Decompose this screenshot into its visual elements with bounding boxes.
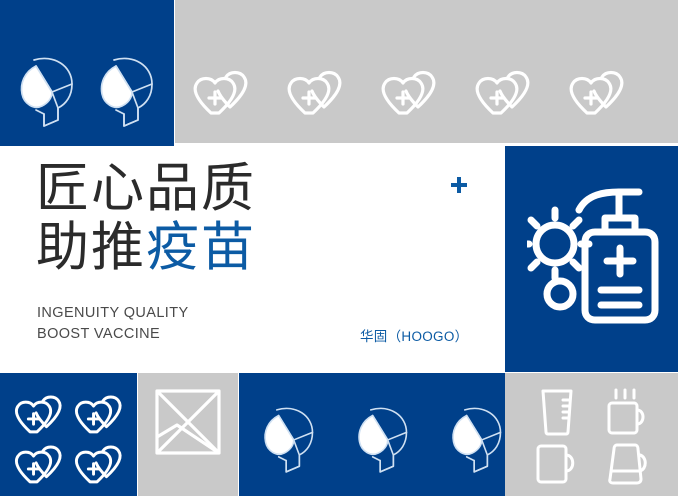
plus-icon xyxy=(450,176,468,194)
headline-line-1: 匠心品质 xyxy=(36,162,256,215)
double-heart-plus-icon xyxy=(472,68,537,120)
double-heart-plus-icon xyxy=(190,68,255,120)
masked-head-icon xyxy=(94,52,160,130)
poster-canvas: 匠心品质 助推疫苗 INGENUITY QUALITY BOOST VACCIN… xyxy=(0,0,678,496)
headline-line-2-dark: 助推 xyxy=(36,217,146,278)
measuring-beaker-icon xyxy=(537,388,577,436)
double-heart-plus-icon xyxy=(72,443,128,488)
subtitle-line-1: INGENUITY QUALITY xyxy=(37,303,189,324)
bottom-vessel-icon-grid xyxy=(522,386,662,490)
mug-icon xyxy=(534,442,580,486)
headline-line-2-accent: 疫苗 xyxy=(146,217,256,278)
top-heart-icon-row xyxy=(190,68,631,120)
broken-image-placeholder xyxy=(155,389,221,455)
double-heart-plus-icon xyxy=(12,443,68,488)
subtitle-line-2: BOOST VACCINE xyxy=(37,324,189,345)
masked-head-icon xyxy=(352,402,414,476)
sanitizer-blue-panel xyxy=(505,146,678,372)
double-heart-plus-icon xyxy=(378,68,443,120)
hand-sanitizer-pump-bottle-icon xyxy=(527,188,659,330)
masked-head-icon xyxy=(258,402,320,476)
steaming-mug-icon xyxy=(604,388,650,436)
brand-name: 华固（HOOGO） xyxy=(360,325,468,345)
bottom-mask-icon-row xyxy=(258,402,508,476)
headline-line-2: 助推疫苗 xyxy=(36,221,256,274)
top-mask-icon-row xyxy=(14,52,160,130)
masked-head-icon xyxy=(14,52,80,130)
masked-head-icon xyxy=(446,402,508,476)
double-heart-plus-icon xyxy=(284,68,349,120)
english-subtitle: INGENUITY QUALITY BOOST VACCINE xyxy=(37,303,189,344)
double-heart-plus-icon xyxy=(566,68,631,120)
headline-block: 匠心品质 助推疫苗 xyxy=(36,162,256,274)
bottom-heart-icon-grid xyxy=(10,390,130,490)
kettle-carafe-icon xyxy=(603,441,651,487)
double-heart-plus-icon xyxy=(12,393,68,438)
double-heart-plus-icon xyxy=(72,393,128,438)
